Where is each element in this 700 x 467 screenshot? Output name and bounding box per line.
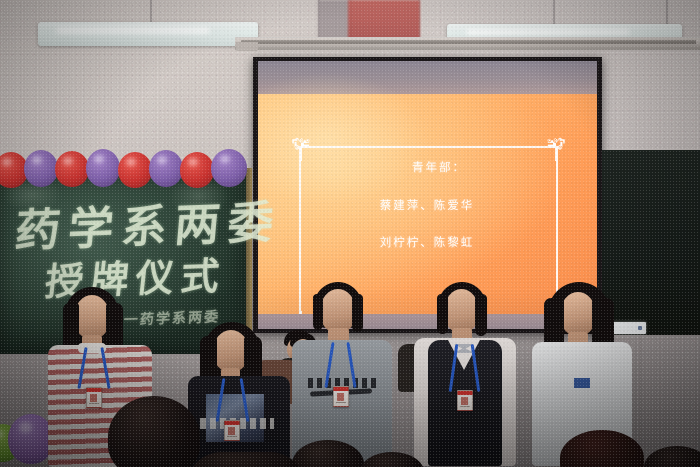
balloon [118,152,152,188]
hair-side-right [475,294,487,336]
head [74,295,110,339]
badge-line [460,406,470,407]
hair-side-right [352,294,363,332]
id-badge [224,420,240,441]
slide-text-block: 青年部： 蔡建萍、陈爱华 刘柠柠、陈黎虹 [306,162,548,249]
roller-rod [241,40,696,44]
wall-warm-light-patch [348,0,420,42]
id-badge [86,387,102,408]
badge-photo [337,393,344,401]
roller-end-cap [236,42,258,51]
balloon [24,150,58,187]
balloon [55,151,89,187]
classroom-ceremony-photo: 青年部： 蔡建萍、陈爱华 刘柠柠、陈黎虹 药学系两委 授牌仪式 一药学系两委 [0,0,700,467]
badge-line [89,403,99,404]
student-3 [292,282,396,467]
hair-side-left [437,294,448,334]
slide-heading: 青年部： [330,162,548,174]
badge-photo [90,394,97,402]
badge-line [227,436,237,437]
balloon [180,152,214,188]
id-badge [333,386,349,407]
id-badge [457,390,473,411]
ruyi-cloud-corner-icon [288,135,314,161]
tshirt-logo [574,378,590,388]
head [444,289,479,333]
hair-side-left [313,294,323,330]
light-highlight [466,29,631,35]
student-4 [412,282,520,467]
balloon [86,149,120,187]
badge-photo [461,397,468,405]
light-highlight [56,27,210,33]
balloon [149,150,183,187]
badge-photo [228,427,235,435]
ceiling-light-left [38,22,258,46]
slide-name-line: 蔡建萍、陈爱华 [306,200,548,212]
head [560,292,596,336]
balloon [211,149,247,187]
ruyi-cloud-corner-icon [543,135,569,161]
slide-name-line: 刘柠柠、陈黎虹 [306,237,548,249]
badge-line [336,402,346,403]
head [320,289,356,333]
